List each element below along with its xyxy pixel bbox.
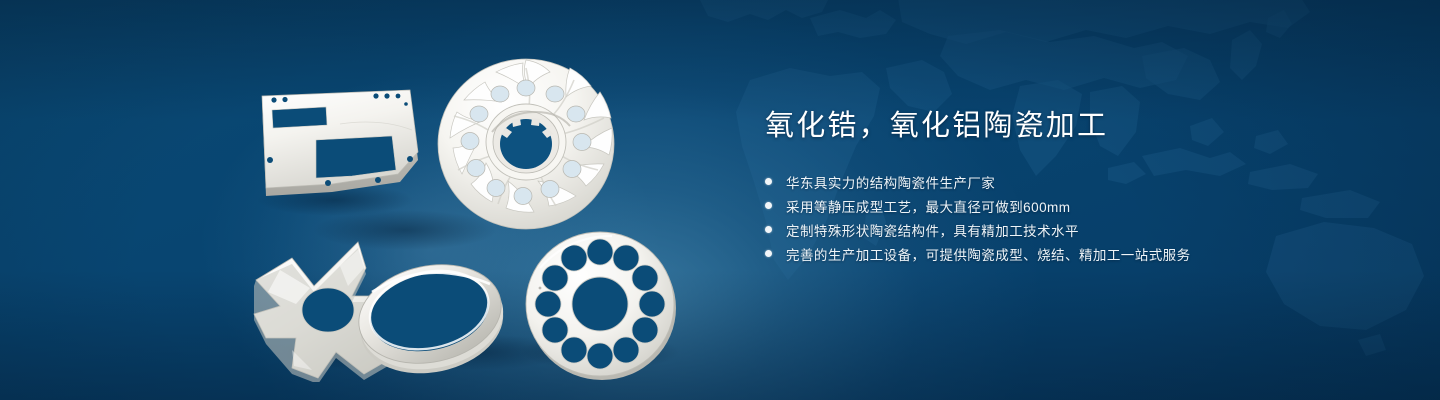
ceramic-flat-plate — [262, 90, 418, 196]
page-title: 氧化锆，氧化铝陶瓷加工 — [765, 108, 1385, 145]
list-item-label: 采用等静压成型工艺，最大直径可做到600mm — [786, 196, 1070, 216]
ceramic-impeller-disc — [438, 59, 614, 229]
background-top-shade — [0, 0, 1440, 120]
list-item: 华东具实力的结构陶瓷件生产厂家 — [765, 171, 1385, 192]
bullet-dot-icon — [765, 226, 772, 233]
feature-list: 华东具实力的结构陶瓷件生产厂家 采用等静压成型工艺，最大直径可做到600mm 定… — [765, 171, 1385, 264]
bullet-dot-icon — [765, 202, 772, 209]
list-item-label: 华东具实力的结构陶瓷件生产厂家 — [786, 172, 995, 192]
promo-banner: 氧化锆，氧化铝陶瓷加工 华东具实力的结构陶瓷件生产厂家 采用等静压成型工艺，最大… — [0, 0, 1440, 400]
bullet-dot-icon — [765, 178, 772, 185]
background-bottom-shade — [0, 270, 1440, 400]
list-item: 定制特殊形状陶瓷结构件，具有精加工技术水平 — [765, 219, 1385, 240]
ceramic-products-image — [240, 52, 690, 382]
list-item-label: 定制特殊形状陶瓷结构件，具有精加工技术水平 — [786, 220, 1079, 240]
list-item: 完善的生产加工设备，可提供陶瓷成型、烧结、精加工一站式服务 — [765, 243, 1385, 264]
list-item-label: 完善的生产加工设备，可提供陶瓷成型、烧结、精加工一站式服务 — [786, 244, 1191, 264]
bullet-dot-icon — [765, 250, 772, 257]
list-item: 采用等静压成型工艺，最大直径可做到600mm — [765, 195, 1385, 216]
banner-copy: 氧化锆，氧化铝陶瓷加工 华东具实力的结构陶瓷件生产厂家 采用等静压成型工艺，最大… — [765, 108, 1385, 267]
